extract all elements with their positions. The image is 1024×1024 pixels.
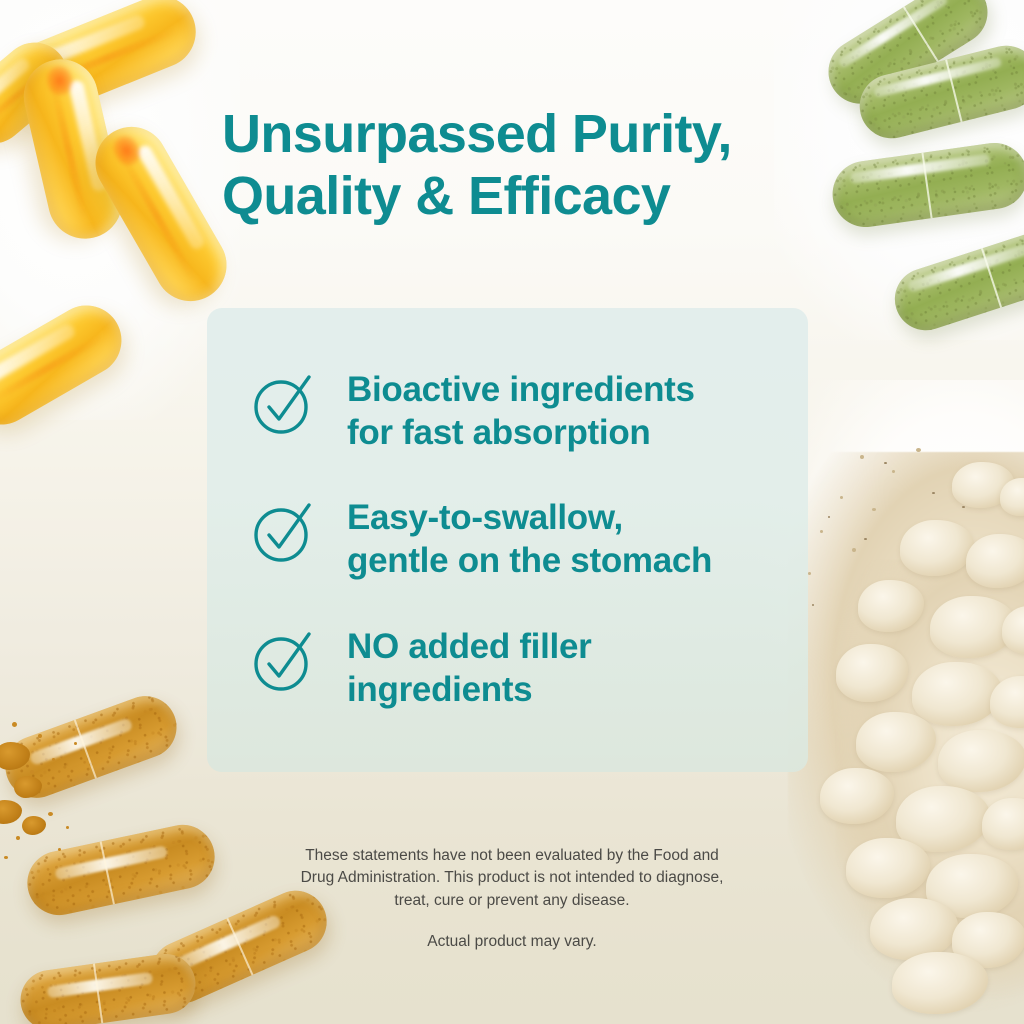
yellow-softgel-capsule	[3, 0, 206, 123]
check-circle-icon	[249, 367, 321, 439]
benefit-line-1: Bioactive ingredients	[347, 369, 695, 412]
benefit-label: Easy-to-swallow, gentle on the stomach	[347, 493, 712, 582]
yellow-softgel-capsule	[82, 114, 239, 315]
check-circle-icon	[249, 624, 321, 696]
disclaimer-line-1: These statements have not been evaluated…	[212, 845, 812, 867]
benefit-line-2: ingredients	[347, 669, 591, 712]
fda-disclaimer: These statements have not been evaluated…	[212, 845, 812, 912]
actual-product-note: Actual product may vary.	[212, 933, 812, 951]
photo-backdrop-top-left	[0, 0, 240, 420]
green-herbal-capsule	[828, 139, 1024, 232]
yellow-softgel-capsule	[16, 52, 129, 246]
product-benefits-graphic: Unsurpassed Purity, Quality & Efficacy B…	[0, 0, 1024, 1024]
disclaimer-line-3: treat, cure or prevent any disease.	[212, 890, 812, 912]
benefit-item-easy-to-swallow: Easy-to-swallow, gentle on the stomach	[249, 493, 712, 582]
turmeric-capsule	[21, 819, 220, 921]
turmeric-capsule	[0, 687, 185, 806]
green-herbal-capsule	[816, 0, 999, 116]
green-herbal-capsule	[853, 39, 1024, 145]
benefit-line-1: NO added filler	[347, 626, 591, 669]
headline-line-2: Quality & Efficacy	[222, 166, 822, 228]
check-circle-icon	[249, 495, 321, 567]
benefit-line-2: gentle on the stomach	[347, 540, 712, 583]
benefit-line-2: for fast absorption	[347, 412, 695, 455]
yellow-softgel-capsule	[0, 293, 134, 438]
benefits-card: Bioactive ingredients for fast absorptio…	[207, 308, 808, 772]
benefit-label: Bioactive ingredients for fast absorptio…	[347, 365, 695, 454]
page-title: Unsurpassed Purity, Quality & Efficacy	[222, 104, 822, 227]
headline-line-1: Unsurpassed Purity,	[222, 104, 822, 166]
benefit-label: NO added filler ingredients	[347, 622, 591, 711]
yellow-softgel-capsule	[0, 29, 81, 157]
benefit-item-bioactive: Bioactive ingredients for fast absorptio…	[249, 365, 695, 454]
benefit-line-1: Easy-to-swallow,	[347, 497, 712, 540]
disclaimer-line-2: Drug Administration. This product is not…	[212, 867, 812, 889]
benefit-item-no-fillers: NO added filler ingredients	[249, 622, 591, 711]
turmeric-capsule	[17, 950, 200, 1024]
green-herbal-capsule	[887, 224, 1024, 339]
